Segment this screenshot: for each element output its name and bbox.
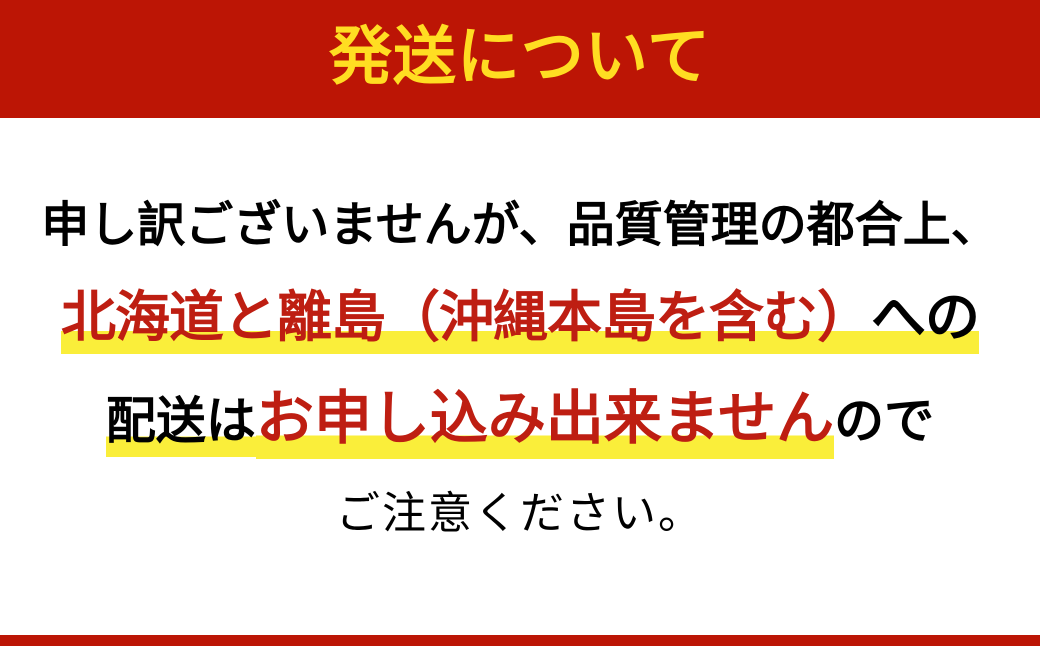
notice-line-1: 申し訳ございませんが、品質管理の都合上、 (0, 202, 1040, 250)
notice-line-3-highlighted-action: お申し込み出来ません (256, 386, 834, 459)
notice-line-3-leading: 配送は (106, 393, 256, 457)
notice-line-1-text: 申し訳ございませんが、品質管理の都合上、 (41, 199, 999, 252)
notice-line-4-text: ご注意ください。 (336, 489, 704, 538)
notice-line-2-trailing: への (871, 286, 979, 354)
notice-line-3-trailing: ので (834, 393, 934, 449)
notice-line-2-highlighted-region: 北海道と離島（沖縄本島を含む） (61, 286, 871, 354)
notice-line-2: 北海道と離島（沖縄本島を含む）への (0, 290, 1040, 345)
shipping-notice-card: 発送について 申し訳ございませんが、品質管理の都合上、 北海道と離島（沖縄本島を… (0, 0, 1040, 646)
notice-body: 申し訳ございませんが、品質管理の都合上、 北海道と離島（沖縄本島を含む）への 配… (0, 118, 1040, 635)
page-title: 発送について (329, 26, 711, 89)
notice-line-4: ご注意ください。 (0, 492, 1040, 536)
notice-header-band: 発送について (0, 0, 1040, 118)
notice-line-3: 配送はお申し込み出来ませんので (0, 390, 1040, 448)
